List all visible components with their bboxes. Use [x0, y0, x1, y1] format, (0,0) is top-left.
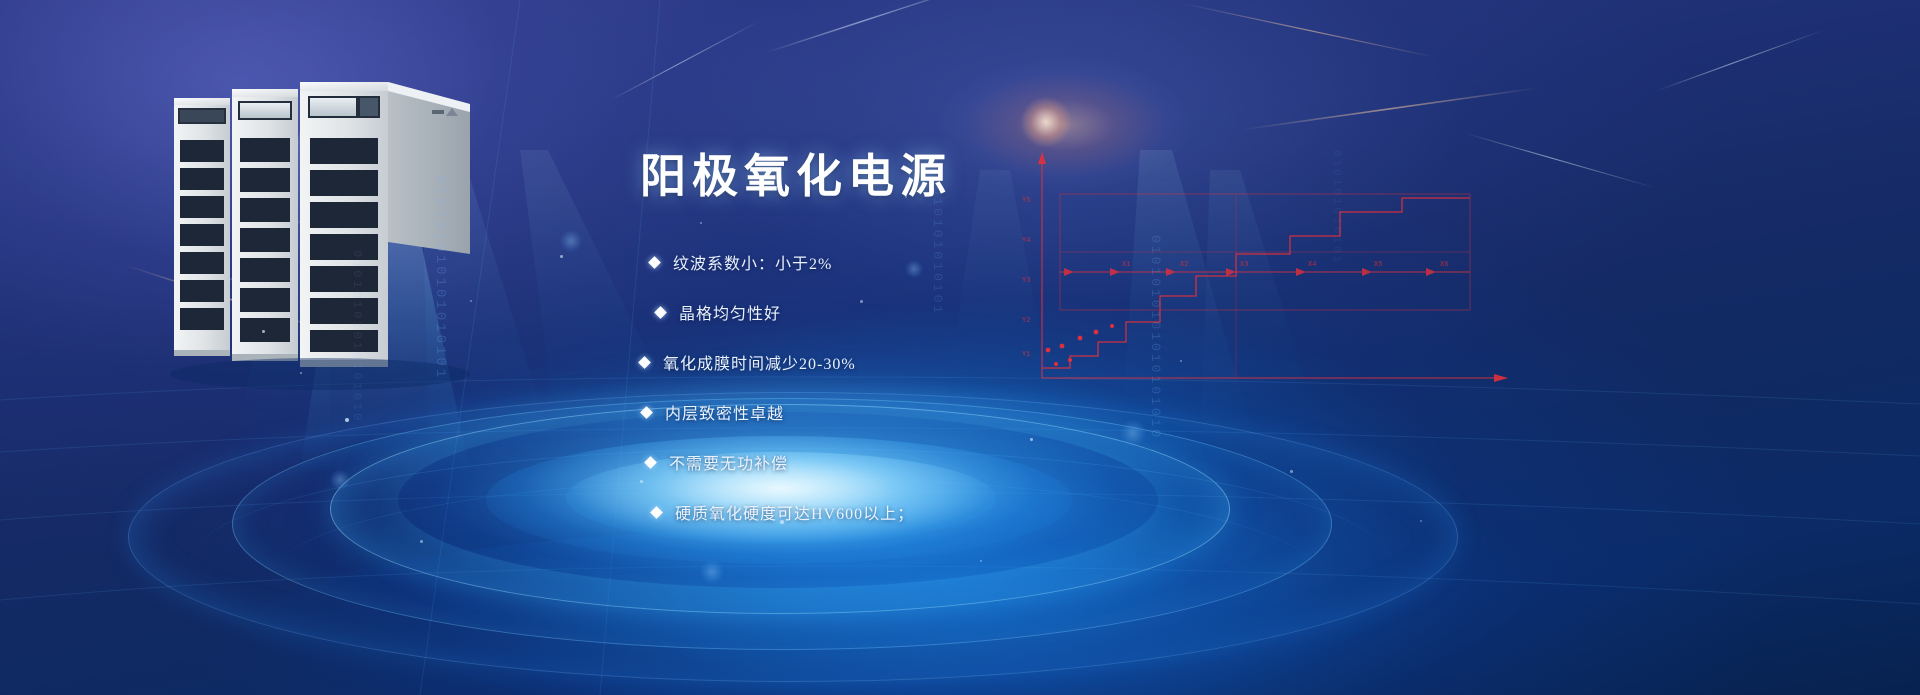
list-item-label: 内层致密性卓越 — [665, 400, 784, 424]
particle — [560, 255, 563, 258]
list-item: 内层致密性卓越 — [642, 400, 1340, 424]
banner-copy: 阳极氧化电源 纹波系数小：小于2% 晶格均匀性好 氧化成膜时间减少20-30% … — [640, 140, 1340, 550]
diamond-bullet-icon — [654, 306, 667, 319]
page-title: 阳极氧化电源 — [640, 140, 1340, 206]
particle — [420, 540, 423, 543]
list-item: 纹波系数小：小于2% — [650, 250, 1340, 274]
stage-floor-glow — [250, 530, 1350, 695]
bokeh-particle — [330, 470, 350, 490]
list-item: 氧化成膜时间减少20-30% — [640, 350, 1340, 374]
list-item-label: 氧化成膜时间减少20-30% — [663, 350, 856, 374]
cabinet-unit-2 — [232, 89, 298, 361]
list-item-label: 纹波系数小：小于2% — [673, 250, 832, 274]
particle — [1420, 520, 1422, 522]
list-item: 硬质氧化硬度可达HV600以上； — [652, 500, 1340, 524]
binary-decor-1: 010101010101010101 — [432, 175, 448, 380]
svg-text:X6: X6 — [1440, 261, 1448, 269]
bokeh-particle — [700, 560, 724, 584]
bokeh-particle — [560, 230, 582, 252]
svg-text:X5: X5 — [1374, 261, 1382, 269]
list-item: 不需要无功补偿 — [646, 450, 1340, 474]
list-item-label: 不需要无功补偿 — [669, 450, 788, 474]
binary-decor-4: 01010101010101010 — [350, 250, 364, 423]
feature-list: 纹波系数小：小于2% 晶格均匀性好 氧化成膜时间减少20-30% 内层致密性卓越… — [640, 250, 1340, 524]
diamond-bullet-icon — [644, 456, 657, 469]
list-item-label: 硬质氧化硬度可达HV600以上； — [675, 500, 914, 524]
list-item: 晶格均匀性好 — [656, 300, 1340, 324]
diamond-bullet-icon — [650, 506, 663, 519]
diamond-bullet-icon — [648, 256, 661, 269]
product-banner: Y5 Y4 Y3 Y2 Y1 X1 X2 X3 X4 X5 X6 0101010… — [0, 0, 1920, 695]
list-item-label: 晶格均匀性好 — [679, 300, 781, 324]
diamond-bullet-icon — [640, 406, 653, 419]
cabinet-shadow — [170, 358, 470, 390]
diamond-bullet-icon — [638, 356, 651, 369]
particle — [980, 560, 982, 562]
cabinet-unit-3 — [174, 98, 230, 356]
